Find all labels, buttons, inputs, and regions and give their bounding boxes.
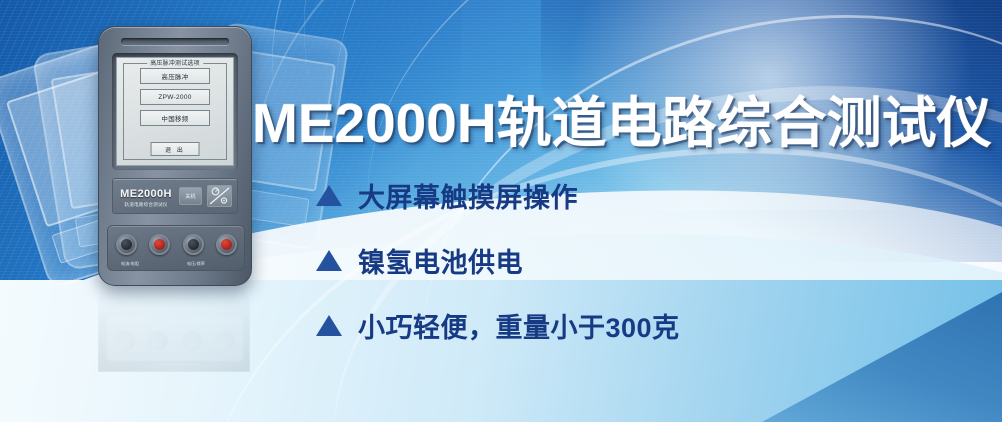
device-model-label: ME2000H xyxy=(120,188,172,200)
triangle-bullet-icon xyxy=(316,250,342,271)
lcd-button-china-frequency-shift[interactable]: 中国移频 xyxy=(140,110,210,126)
reflection-jack xyxy=(215,331,235,351)
device-lcd: 高压脉冲测试选项 高压脉冲 ZPW-2000 中国移频 退 出 xyxy=(116,57,234,166)
lcd-button-exit[interactable]: 退 出 xyxy=(151,142,200,156)
jack-voltage-black[interactable] xyxy=(183,234,204,255)
feature-item-2: 镍氢电池供电 xyxy=(316,241,936,280)
triangle-bullet-icon xyxy=(316,315,342,336)
reflection-jack xyxy=(115,331,135,351)
jack-current-black[interactable] xyxy=(116,234,137,255)
triangle-bullet-icon xyxy=(316,185,342,206)
lcd-button-high-voltage-pulse[interactable]: 高压脉冲 xyxy=(140,68,210,84)
lcd-legend: 高压脉冲测试选项 xyxy=(147,58,203,67)
device-top-slot xyxy=(121,38,229,45)
feature-text: 小巧轻便，重量小于300克 xyxy=(358,306,680,345)
device-reflection xyxy=(98,286,250,372)
gauge-settings-icon[interactable] xyxy=(207,185,232,207)
reflection-jack xyxy=(182,331,202,351)
jack-voltage-red[interactable] xyxy=(216,234,237,255)
lcd-button-zpw-2000[interactable]: ZPW-2000 xyxy=(140,89,210,105)
device-screen-bezel: 高压脉冲测试选项 高压脉冲 ZPW-2000 中国移频 退 出 xyxy=(112,53,238,170)
device-brand: ME2000H 轨道电路综合测试仪 xyxy=(118,185,174,208)
product-banner: 高压脉冲测试选项 高压脉冲 ZPW-2000 中国移频 退 出 ME2000H … xyxy=(0,0,1002,422)
jack-label-voltage: 电压/频率 xyxy=(187,261,205,267)
jack-label-current: 电流/电阻 xyxy=(121,261,139,267)
jack-current-red[interactable] xyxy=(149,234,170,255)
feature-list: 大屏幕触摸屏操作 镍氢电池供电 小巧轻便，重量小于300克 xyxy=(316,176,936,371)
product-device: 高压脉冲测试选项 高压脉冲 ZPW-2000 中国移频 退 出 ME2000H … xyxy=(98,26,252,286)
reflection-jacks xyxy=(106,316,244,362)
feature-item-3: 小巧轻便，重量小于300克 xyxy=(316,306,936,345)
reflection-jack xyxy=(148,331,168,351)
device-model-sublabel: 轨道电路综合测试仪 xyxy=(118,203,174,208)
device-jack-panel: 电流/电阻 电压/频率 xyxy=(107,225,245,271)
feature-text: 大屏幕触摸屏操作 xyxy=(358,176,578,215)
feature-item-1: 大屏幕触摸屏操作 xyxy=(316,176,936,215)
device-brand-panel: ME2000H 轨道电路综合测试仪 关机 xyxy=(112,178,238,214)
feature-text: 镍氢电池供电 xyxy=(358,241,523,280)
lcd-fieldset: 高压脉冲测试选项 高压脉冲 ZPW-2000 中国移频 退 出 xyxy=(123,63,227,160)
device-power-off-key[interactable]: 关机 xyxy=(179,187,202,205)
page-title: ME2000H轨道电路综合测试仪 xyxy=(252,78,992,158)
